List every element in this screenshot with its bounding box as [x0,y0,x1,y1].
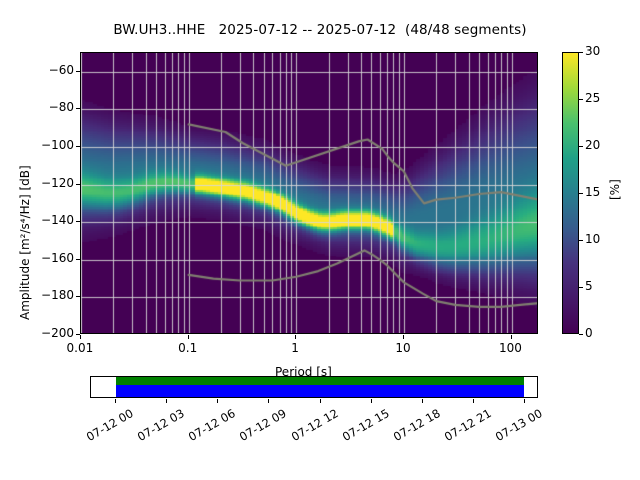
colorbar-tick-label: 0 [585,326,593,340]
x-tick-mark [188,335,189,339]
time-tick-label: 07-13 00 [493,406,545,444]
colorbar-tick-label: 20 [585,138,600,152]
x-tick-label: 100 [499,341,522,355]
time-tick-mark [320,399,321,403]
ppsd-density-heatmap [81,53,538,334]
time-coverage-bar[interactable] [90,376,538,398]
colorbar-tick-mark [579,99,583,100]
time-tick-label: 07-12 06 [186,406,238,444]
x-tick-mark [80,335,81,339]
ppsd-histogram-axes[interactable] [80,52,538,334]
colorbar-tick-mark [579,146,583,147]
time-tick-label: 07-12 15 [340,406,392,444]
time-tick-mark [371,399,372,403]
plot-title: BW.UH3..HHE 2025-07-12 -- 2025-07-12 (48… [0,22,640,38]
y-tick-label: −100 [41,138,74,152]
y-tick-mark [76,108,80,109]
time-tick-mark [115,399,116,403]
time-tick-mark [473,399,474,403]
time-tick-mark [422,399,423,403]
time-tick-mark [166,399,167,403]
coverage-fill [116,377,524,397]
x-tick-mark [511,335,512,339]
y-tick-mark [76,221,80,222]
y-tick-mark [76,296,80,297]
coverage-band-blue [116,385,524,397]
colorbar-tick-mark [579,334,583,335]
x-tick-label: 0.01 [67,341,94,355]
colorbar-tick-mark [579,52,583,53]
y-tick-label: −140 [41,213,74,227]
time-tick-label: 07-12 18 [391,406,443,444]
time-tick-mark [217,399,218,403]
colorbar-tick-label: 15 [585,185,600,199]
y-tick-label: −120 [41,176,74,190]
colorbar-tick-mark [579,240,583,241]
time-tick-mark [524,399,525,403]
y-tick-mark [76,71,80,72]
coverage-band-green [116,377,524,385]
colorbar-tick-label: 10 [585,232,600,246]
y-tick-label: −80 [49,100,74,114]
colorbar-tick-label: 30 [585,44,600,58]
y-tick-label: −200 [41,326,74,340]
time-tick-label: 07-12 21 [442,406,494,444]
y-tick-label: −60 [49,63,74,77]
y-axis-label: Amplitude [m²/s⁴/Hz] [dB] [18,165,32,320]
y-tick-label: −160 [41,251,74,265]
y-tick-mark [76,259,80,260]
time-tick-label: 07-12 03 [135,406,187,444]
colorbar [562,52,579,334]
time-tick-mark [268,399,269,403]
y-tick-label: −180 [41,288,74,302]
colorbar-tick-label: 25 [585,91,600,105]
y-tick-mark [76,146,80,147]
x-tick-mark [403,335,404,339]
ppsd-figure: BW.UH3..HHE 2025-07-12 -- 2025-07-12 (48… [0,0,640,480]
colorbar-tick-mark [579,287,583,288]
x-tick-label: 1 [291,341,299,355]
colorbar-unit-label: [%] [608,179,622,200]
x-tick-mark [295,335,296,339]
time-tick-label: 07-12 09 [237,406,289,444]
y-tick-mark [76,184,80,185]
colorbar-tick-mark [579,193,583,194]
time-tick-label: 07-12 12 [288,406,340,444]
x-tick-label: 0.1 [178,341,197,355]
colorbar-tick-label: 5 [585,279,593,293]
time-tick-label: 07-12 00 [84,406,136,444]
x-tick-label: 10 [395,341,410,355]
